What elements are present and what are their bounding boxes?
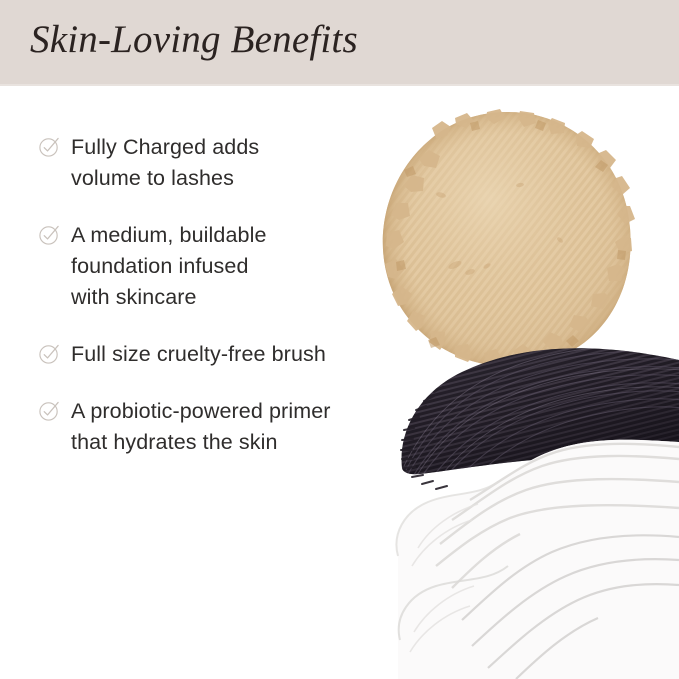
benefit-item: Full size cruelty-free brush — [38, 339, 438, 370]
check-circle-icon — [38, 223, 61, 246]
cream-primer-swirl — [396, 440, 679, 679]
benefit-text: A probiotic-powered primer that hydrates… — [71, 399, 331, 454]
page-title: Skin-Loving Benefits — [30, 17, 358, 64]
benefit-text: Full size cruelty-free brush — [71, 342, 326, 366]
benefit-item: A medium, buildable foundation infused w… — [38, 220, 438, 313]
benefits-list: Fully Charged adds volume to lashes A me… — [38, 132, 438, 484]
benefit-item: Fully Charged adds volume to lashes — [38, 132, 438, 194]
benefit-text: A medium, buildable foundation infused w… — [71, 223, 267, 309]
benefit-item: A probiotic-powered primer that hydrates… — [38, 396, 438, 458]
header-band: Skin-Loving Benefits — [0, 0, 679, 86]
benefit-text: Fully Charged adds volume to lashes — [71, 135, 259, 190]
check-circle-icon — [38, 342, 61, 365]
check-circle-icon — [38, 135, 61, 158]
check-circle-icon — [38, 399, 61, 422]
product-benefits-graphic: Skin-Loving Benefits Fully Charged adds … — [0, 0, 679, 679]
